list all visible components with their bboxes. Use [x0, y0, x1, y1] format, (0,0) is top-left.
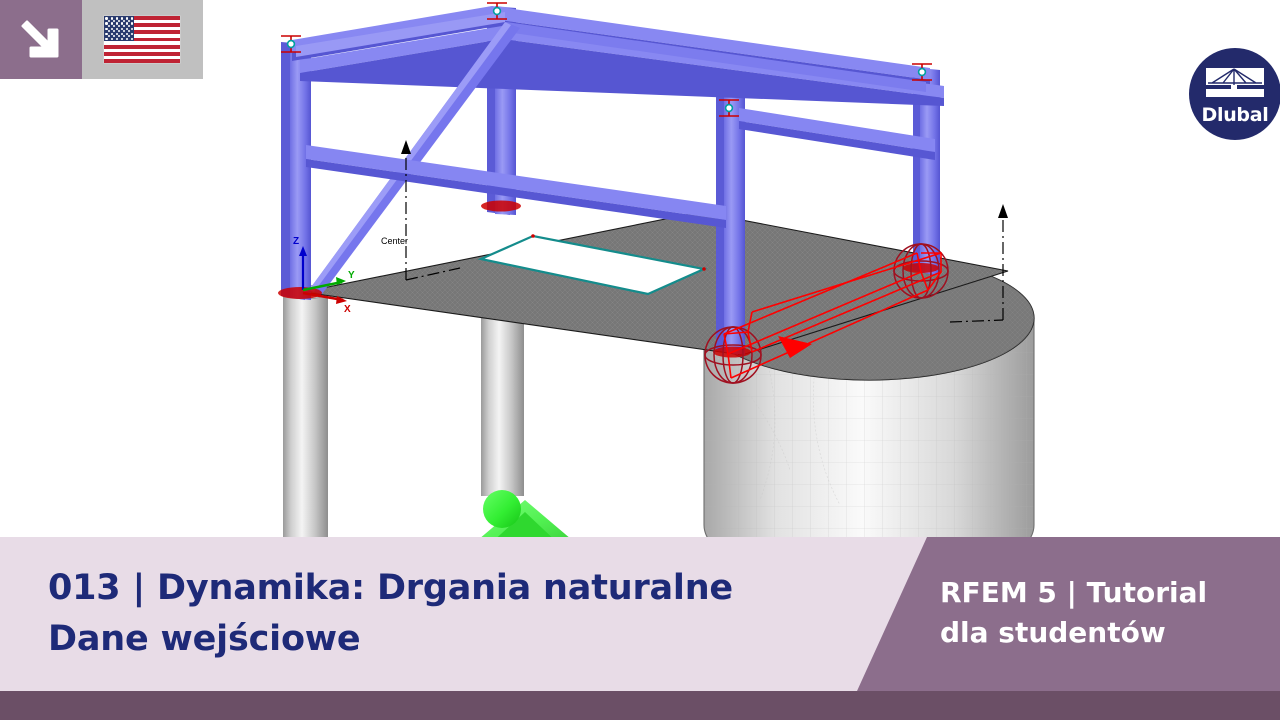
flag-badge[interactable]	[82, 0, 203, 79]
center-axis-arrow-right	[998, 204, 1008, 218]
center-axis-arrow-left	[401, 140, 411, 154]
banner-footer-bar	[0, 691, 1280, 720]
dlubal-truss-icon	[1206, 66, 1264, 104]
axis-label-y: Y	[348, 270, 355, 281]
arrow-down-right-icon	[19, 16, 64, 61]
secondary-beams	[306, 108, 935, 228]
structural-model-scene: Center Z Y X	[0, 0, 1280, 560]
title-banner: 013 | Dynamika: Drgania naturalne Dane w…	[0, 537, 1280, 720]
banner-subtitle-line-1: RFEM 5 | Tutorial	[940, 573, 1260, 613]
center-label: Center	[381, 236, 408, 246]
dlubal-wordmark: Dlubal	[1189, 104, 1280, 126]
dlubal-logo[interactable]: Dlubal	[1189, 48, 1280, 140]
arrow-badge[interactable]	[0, 0, 82, 79]
banner-subtitle-line-2: dla studentów	[940, 613, 1260, 653]
axis-label-z: Z	[293, 236, 299, 247]
page-title-line-2: Dane wejściowe	[48, 614, 868, 665]
banner-subtitle: RFEM 5 | Tutorial dla studentów	[940, 573, 1260, 653]
page-title: 013 | Dynamika: Drgania naturalne Dane w…	[48, 563, 868, 665]
page-title-line-1: 013 | Dynamika: Drgania naturalne	[48, 563, 868, 614]
axis-label-x: X	[344, 304, 351, 315]
us-flag-icon	[104, 16, 180, 63]
model-viewport[interactable]: Center Z Y X	[0, 0, 1280, 560]
